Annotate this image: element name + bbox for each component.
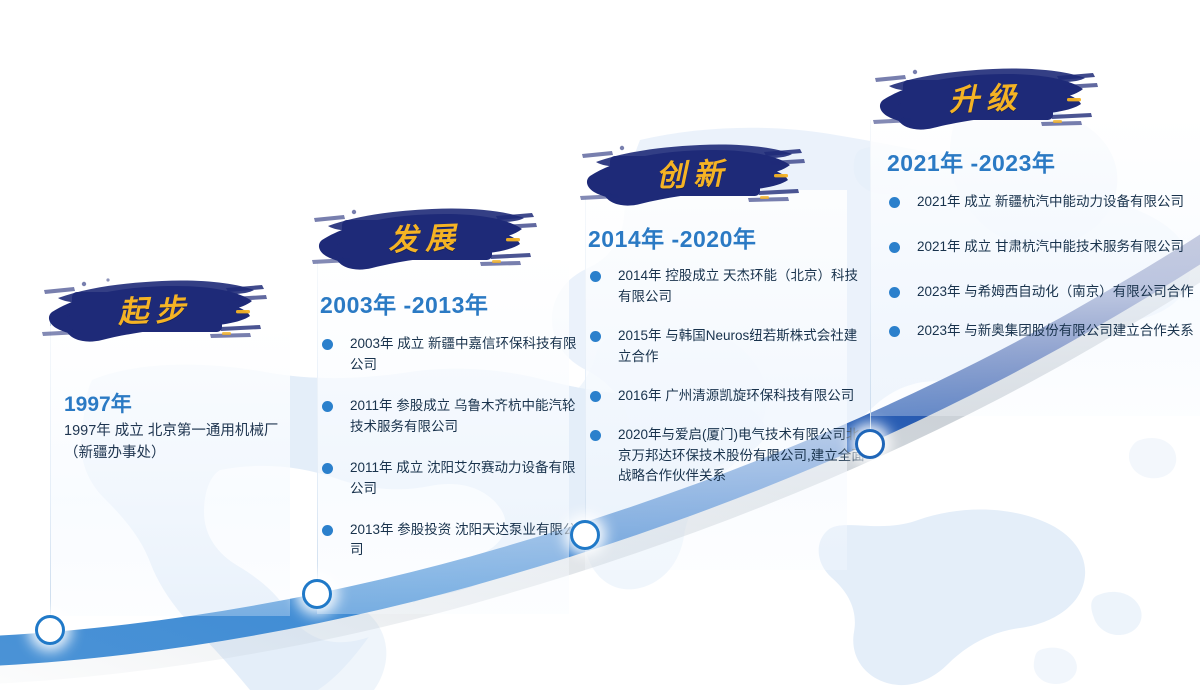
marker-ring-icon	[302, 579, 332, 609]
bullet-icon	[889, 326, 900, 337]
era-column-development: 发展 2003年 -2013年 2003年 成立 新疆中嘉信环保科技有限公司 2…	[292, 198, 562, 561]
era-title-start: 1997年	[64, 388, 282, 418]
era-lead-start: 1997年 成立 北京第一通用机械厂（新疆办事处）	[64, 420, 282, 465]
event-text: 2023年 与希姆西自动化（南京）有限公司合作	[917, 284, 1194, 299]
list-item: 2023年 与新奥集团股份有限公司建立合作关系	[887, 321, 1200, 342]
bullet-icon	[322, 401, 333, 412]
event-text: 2023年 与新奥集团股份有限公司建立合作关系	[917, 323, 1194, 338]
event-text: 2011年 参股成立 乌鲁木齐杭中能汽轮技术服务有限公司	[350, 398, 576, 434]
list-item: 2011年 成立 沈阳艾尔赛动力设备有限公司	[320, 458, 580, 500]
era-title-innovation: 2014年 -2020年	[588, 220, 840, 254]
bullet-icon	[590, 271, 601, 282]
list-item: 2003年 成立 新疆中嘉信环保科技有限公司	[320, 334, 580, 376]
list-item: 2023年 与希姆西自动化（南京）有限公司合作	[887, 282, 1200, 303]
milestone-marker-1997[interactable]	[35, 615, 65, 645]
bullet-icon	[322, 339, 333, 350]
era-column-innovation: 创新 2014年 -2020年 2014年 控股成立 天杰环能（北京）科技有限公…	[560, 134, 840, 487]
event-text: 2011年 成立 沈阳艾尔赛动力设备有限公司	[350, 460, 576, 496]
brush-badge-upgrade: 升级	[871, 58, 1101, 134]
marker-ring-icon	[855, 429, 885, 459]
era-column-upgrade: 升级 2021年 -2023年 2021年 成立 新疆杭汽中能动力设备有限公司 …	[845, 58, 1195, 342]
event-text: 2016年 广州清源凯旋环保科技有限公司	[618, 388, 854, 403]
event-text: 2015年 与韩国Neuros纽若斯株式会社建立合作	[618, 328, 857, 364]
era-title-upgrade: 2021年 -2023年	[887, 144, 1195, 178]
event-list-innovation: 2014年 控股成立 天杰环能（北京）科技有限公司 2015年 与韩国Neuro…	[588, 266, 840, 487]
event-text: 2021年 成立 新疆杭汽中能动力设备有限公司	[917, 194, 1184, 209]
list-item: 2011年 参股成立 乌鲁木齐杭中能汽轮技术服务有限公司	[320, 396, 580, 438]
era-title-development: 2003年 -2013年	[320, 286, 562, 320]
event-list-upgrade: 2021年 成立 新疆杭汽中能动力设备有限公司 2021年 成立 甘肃杭汽中能技…	[887, 192, 1195, 342]
list-item: 2020年与爱启(厦门)电气技术有限公司北京万邦达环保技术股份有限公司,建立全面…	[588, 425, 868, 488]
era-column-start: 起步 1997年 1997年 成立 北京第一通用机械厂（新疆办事处）	[22, 270, 282, 465]
bullet-icon	[889, 242, 900, 253]
brush-badge-label: 起步	[39, 266, 272, 351]
marker-ring-icon	[35, 615, 65, 645]
milestone-marker-2021[interactable]	[855, 429, 885, 459]
brush-badge-label: 升级	[870, 54, 1103, 139]
list-item: 2016年 广州清源凯旋环保科技有限公司	[588, 386, 866, 407]
event-text: 2020年与爱启(厦门)电气技术有限公司北京万邦达环保技术股份有限公司,建立全面…	[618, 427, 865, 484]
list-item: 2021年 成立 甘肃杭汽中能技术服务有限公司	[887, 237, 1200, 258]
list-item: 2021年 成立 新疆杭汽中能动力设备有限公司	[887, 192, 1200, 213]
bullet-icon	[889, 287, 900, 298]
event-text: 2013年 参股投资 沈阳天达泵业有限公司	[350, 522, 577, 558]
list-item: 2015年 与韩国Neuros纽若斯株式会社建立合作	[588, 326, 866, 368]
event-text: 2003年 成立 新疆中嘉信环保科技有限公司	[350, 336, 577, 372]
brush-badge-start: 起步	[40, 270, 270, 346]
event-text: 2021年 成立 甘肃杭汽中能技术服务有限公司	[917, 239, 1184, 254]
brush-badge-label: 发展	[309, 194, 542, 279]
milestone-marker-2003[interactable]	[302, 579, 332, 609]
bullet-icon	[590, 391, 601, 402]
list-item: 2014年 控股成立 天杰环能（北京）科技有限公司	[588, 266, 866, 308]
bullet-icon	[590, 430, 601, 441]
bullet-icon	[590, 331, 601, 342]
milestone-marker-2014[interactable]	[570, 520, 600, 550]
brush-badge-development: 发展	[310, 198, 540, 274]
bullet-icon	[889, 197, 900, 208]
bullet-icon	[322, 463, 333, 474]
brush-badge-label: 创新	[577, 130, 810, 215]
bullet-icon	[322, 525, 333, 536]
marker-ring-icon	[570, 520, 600, 550]
timeline-infographic: 起步 1997年 1997年 成立 北京第一通用机械厂（新疆办事处）	[0, 0, 1200, 690]
list-item: 2013年 参股投资 沈阳天达泵业有限公司	[320, 520, 580, 562]
brush-badge-innovation: 创新	[578, 134, 808, 210]
event-list-development: 2003年 成立 新疆中嘉信环保科技有限公司 2011年 参股成立 乌鲁木齐杭中…	[320, 334, 562, 561]
event-text: 2014年 控股成立 天杰环能（北京）科技有限公司	[618, 268, 858, 304]
